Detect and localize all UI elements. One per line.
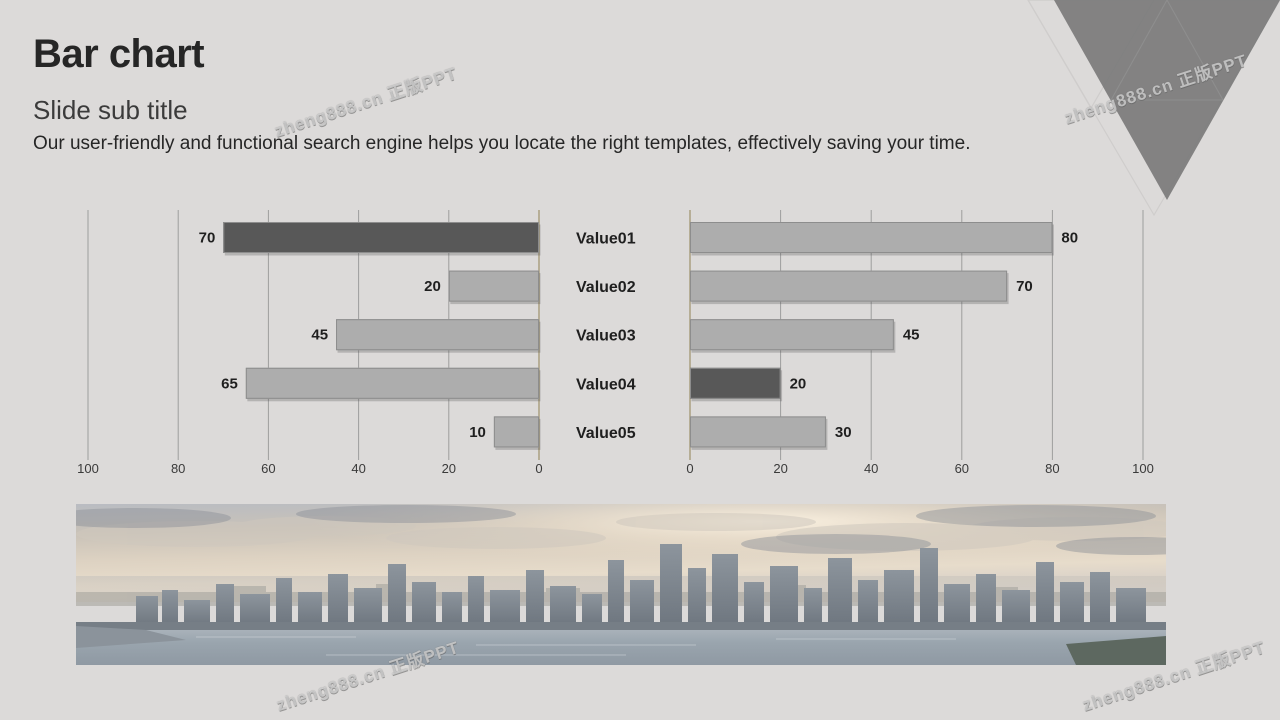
- left-value-label-Value03: 45: [311, 327, 328, 344]
- right-value-label-Value02: 70: [1016, 278, 1033, 295]
- right-bar-Value03[interactable]: [690, 319, 894, 350]
- left-bar-face-Value04[interactable]: [246, 368, 539, 399]
- watermark-1: zheng888.cn 正版PPT: [271, 59, 460, 142]
- right-bar-Value02[interactable]: [690, 271, 1007, 302]
- category-label-Value03: Value03: [576, 328, 636, 345]
- tornado-bar-chart: 1008060402007020456510 Value01Value02Val…: [0, 200, 1280, 490]
- left-value-label-Value01: 70: [199, 230, 216, 247]
- left-tick-label-60: 60: [261, 461, 275, 476]
- triangle-divider-a: [1111, 0, 1167, 100]
- left-tick-label-100: 100: [77, 461, 99, 476]
- page-subtitle: Slide sub title: [33, 97, 188, 123]
- right-bar-Value01[interactable]: [690, 222, 1052, 253]
- left-bar-face-Value02[interactable]: [449, 271, 539, 302]
- category-label-Value01: Value01: [576, 231, 636, 248]
- right-tick-label-20: 20: [773, 461, 787, 476]
- page-description: Our user-friendly and functional search …: [33, 133, 971, 156]
- charts-region: 1008060402007020456510 Value01Value02Val…: [0, 200, 1280, 490]
- right-tick-label-40: 40: [864, 461, 878, 476]
- water: [76, 630, 1166, 665]
- left-bar-face-Value05[interactable]: [494, 416, 539, 447]
- right-bar-Value05[interactable]: [690, 416, 826, 447]
- right-value-label-Value03: 45: [903, 327, 920, 344]
- left-value-label-Value02: 20: [424, 278, 441, 295]
- city-skyline-photo: [76, 504, 1166, 665]
- left-tick-label-40: 40: [351, 461, 365, 476]
- right-value-label-Value05: 30: [835, 424, 852, 441]
- category-labels: Value01Value02Value03Value04Value05: [576, 231, 636, 442]
- decorative-triangles: [980, 0, 1280, 230]
- left-value-label-Value04: 65: [221, 375, 238, 392]
- right-tick-label-60: 60: [955, 461, 969, 476]
- right-bar-chart: 0204060801008070452030: [686, 210, 1153, 476]
- page-title: Bar chart: [33, 34, 204, 74]
- triangle-divider-c: [1167, 0, 1223, 100]
- triangle-outline-left: [1028, 0, 1154, 108]
- left-tick-label-20: 20: [442, 461, 456, 476]
- right-value-label-Value01: 80: [1061, 230, 1078, 247]
- right-tick-label-0: 0: [686, 461, 693, 476]
- right-bar-Value04[interactable]: [690, 368, 781, 399]
- right-value-label-Value04: 20: [790, 375, 807, 392]
- category-label-Value05: Value05: [576, 425, 636, 442]
- skyline-illustration: [76, 504, 1166, 665]
- left-tick-label-0: 0: [535, 461, 542, 476]
- triangle-solid-main: [1054, 0, 1280, 200]
- left-tick-label-80: 80: [171, 461, 185, 476]
- triangle-outline-large: [1028, 0, 1280, 215]
- left-bar-face-Value01[interactable]: [223, 222, 539, 253]
- left-bar-chart: 1008060402007020456510: [77, 210, 542, 476]
- triangle-graphic: [980, 0, 1280, 230]
- right-tick-label-100: 100: [1132, 461, 1154, 476]
- left-value-label-Value05: 10: [469, 424, 486, 441]
- slide-canvas: Bar chart Slide sub title Our user-frien…: [0, 0, 1280, 720]
- left-bar-face-Value03[interactable]: [336, 319, 539, 350]
- right-tick-label-80: 80: [1045, 461, 1059, 476]
- watermark-2: zheng888.cn 正版PPT: [1061, 46, 1250, 129]
- category-label-Value02: Value02: [576, 279, 636, 296]
- category-label-Value04: Value04: [576, 376, 636, 393]
